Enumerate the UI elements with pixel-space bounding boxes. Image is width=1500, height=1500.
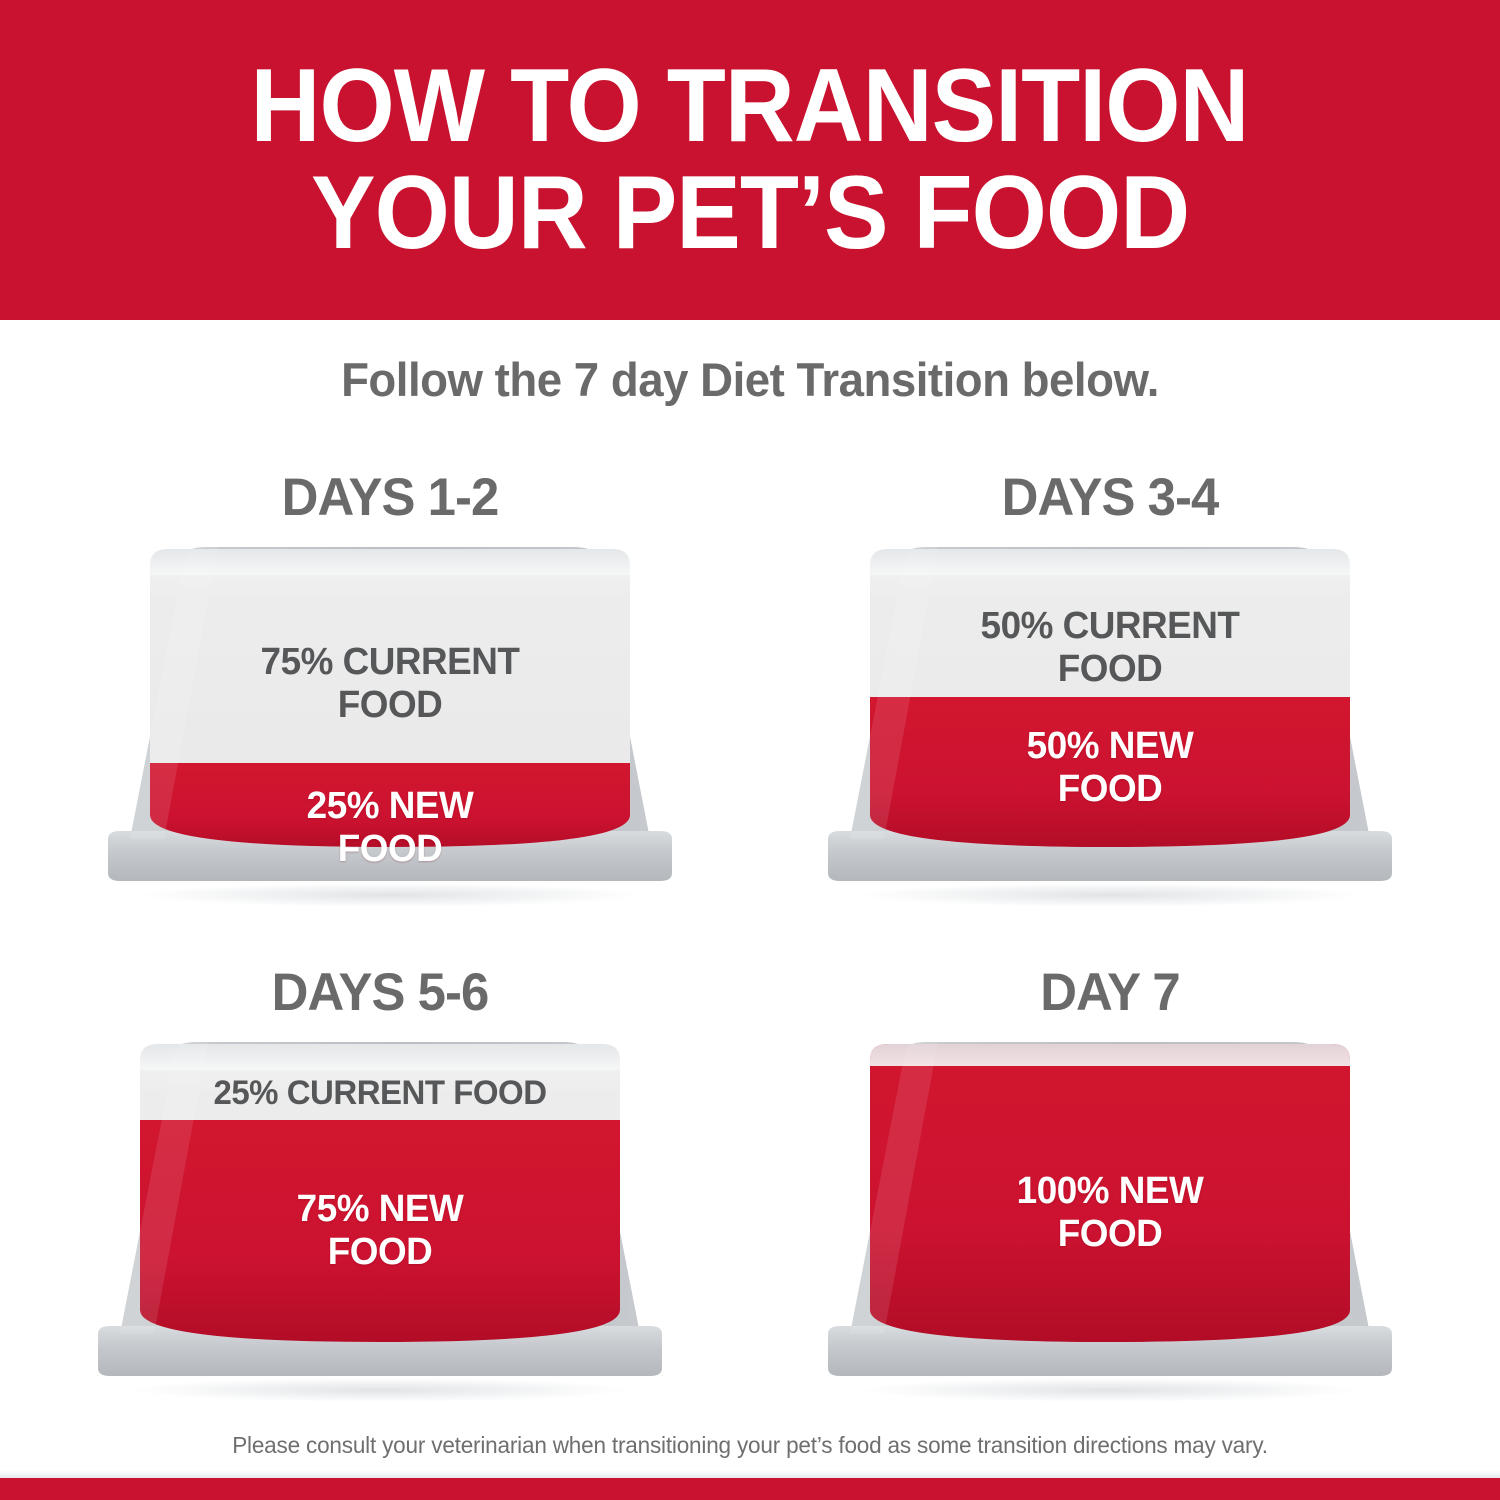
new-food-label-day-7: 100% NEW FOOD <box>819 1170 1401 1255</box>
bowl-days-1-2: 75% CURRENT FOOD 25% NEW FOOD <box>90 547 690 907</box>
transition-step-days-3-4: DAYS 3-4 <box>750 455 1470 933</box>
bowl-labels-days-1-2: 75% CURRENT FOOD 25% NEW FOOD <box>90 547 690 907</box>
transition-step-days-5-6: DAYS 5-6 <box>20 950 740 1428</box>
step-title-day-7: DAY 7 <box>764 962 1455 1023</box>
bowl-days-5-6: 25% CURRENT FOOD 75% NEW FOOD <box>80 1042 680 1402</box>
current-food-label-days-5-6: 25% CURRENT FOOD <box>89 1074 671 1112</box>
current-food-label-days-1-2: 75% CURRENT FOOD <box>99 641 681 726</box>
header-banner: HOW TO TRANSITION YOUR PET’S FOOD <box>0 0 1500 320</box>
footer-disclaimer: Please consult your veterinarian when tr… <box>15 1432 1485 1459</box>
bowl-labels-days-5-6: 25% CURRENT FOOD 75% NEW FOOD <box>80 1042 680 1402</box>
new-food-label-days-1-2: 25% NEW FOOD <box>99 785 681 870</box>
step-title-days-5-6: DAYS 5-6 <box>34 962 725 1023</box>
transition-steps-grid: DAYS 1-2 <box>0 455 1500 1440</box>
step-title-days-3-4: DAYS 3-4 <box>764 467 1455 528</box>
step-title-days-1-2: DAYS 1-2 <box>44 467 735 528</box>
bottom-accent-bar <box>0 1478 1500 1500</box>
bowl-labels-days-3-4: 50% CURRENT FOOD 50% NEW FOOD <box>810 547 1410 907</box>
bowl-day-7: 100% NEW FOOD <box>810 1042 1410 1402</box>
new-food-label-days-3-4: 50% NEW FOOD <box>819 725 1401 810</box>
transition-step-days-1-2: DAYS 1-2 <box>30 455 750 933</box>
bowl-labels-day-7: 100% NEW FOOD <box>810 1042 1410 1402</box>
new-food-label-days-5-6: 75% NEW FOOD <box>89 1188 671 1273</box>
footer-shadow-divider <box>0 1470 1500 1478</box>
bowl-days-3-4: 50% CURRENT FOOD 50% NEW FOOD <box>810 547 1410 907</box>
header-title-line-2: YOUR PET’S FOOD <box>311 160 1189 267</box>
subtitle: Follow the 7 day Diet Transition below. <box>23 352 1478 407</box>
header-title-line-1: HOW TO TRANSITION <box>251 53 1249 160</box>
transition-step-day-7: DAY 7 <box>750 950 1470 1428</box>
current-food-label-days-3-4: 50% CURRENT FOOD <box>819 605 1401 690</box>
